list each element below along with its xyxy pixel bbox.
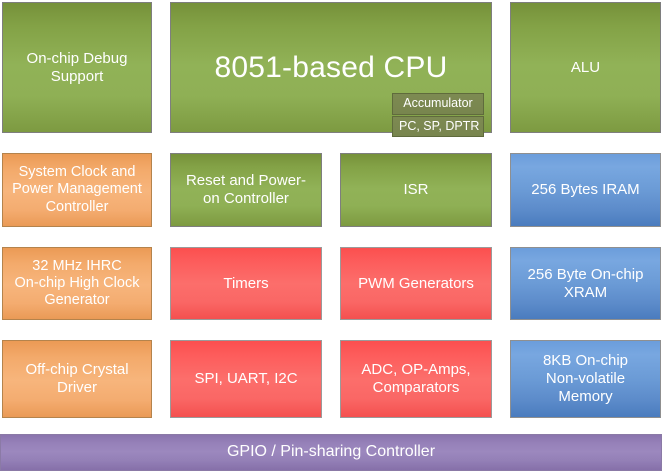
- block-label: ADC, OP-Amps, Comparators: [347, 361, 485, 396]
- block-isr[interactable]: ISR: [340, 153, 492, 227]
- block-label: ALU: [517, 59, 654, 77]
- block-label: On-chip Debug Support: [9, 50, 145, 85]
- block-label: Timers: [177, 275, 315, 293]
- block-gpio-pin-sharing-controller[interactable]: GPIO / Pin-sharing Controller: [0, 434, 662, 471]
- block-system-clock-power-management[interactable]: System Clock and Power Management Contro…: [2, 153, 152, 227]
- block-reset-power-on-controller[interactable]: Reset and Power- on Controller: [170, 153, 322, 227]
- block-label: SPI, UART, I2C: [177, 370, 315, 388]
- block-label: PWM Generators: [347, 275, 485, 293]
- block-diagram: On-chip Debug Support 8051-based CPU Acc…: [0, 0, 662, 473]
- cpu-register-accumulator[interactable]: Accumulator: [392, 93, 484, 115]
- block-256-byte-on-chip-xram[interactable]: 256 Byte On-chip XRAM: [510, 247, 661, 320]
- block-label: Reset and Power- on Controller: [177, 172, 315, 207]
- block-label: 256 Byte On-chip XRAM: [517, 266, 654, 301]
- block-32mhz-ihrc-clock-generator[interactable]: 32 MHz IHRC On-chip High Clock Generator: [2, 247, 152, 320]
- block-label: Off-chip Crystal Driver: [9, 361, 145, 396]
- block-label: System Clock and Power Management Contro…: [9, 164, 145, 215]
- block-8kb-non-volatile-memory[interactable]: 8KB On-chip Non-volatile Memory: [510, 340, 661, 418]
- block-label: 256 Bytes IRAM: [517, 181, 654, 199]
- block-label: 32 MHz IHRC On-chip High Clock Generator: [9, 258, 145, 309]
- cpu-register-stack: Accumulator PC, SP, DPTR: [392, 93, 484, 137]
- block-adc-opamps-comparators[interactable]: ADC, OP-Amps, Comparators: [340, 340, 492, 418]
- block-spi-uart-i2c[interactable]: SPI, UART, I2C: [170, 340, 322, 418]
- block-label: ISR: [347, 181, 485, 199]
- block-off-chip-crystal-driver[interactable]: Off-chip Crystal Driver: [2, 340, 152, 418]
- block-256-bytes-iram[interactable]: 256 Bytes IRAM: [510, 153, 661, 227]
- cpu-register-pointers[interactable]: PC, SP, DPTR: [392, 116, 484, 138]
- block-timers[interactable]: Timers: [170, 247, 322, 320]
- block-label: GPIO / Pin-sharing Controller: [7, 443, 655, 462]
- block-on-chip-debug-support[interactable]: On-chip Debug Support: [2, 2, 152, 133]
- block-label: 8KB On-chip Non-volatile Memory: [517, 352, 654, 405]
- block-label: 8051-based CPU: [177, 50, 485, 85]
- block-pwm-generators[interactable]: PWM Generators: [340, 247, 492, 320]
- block-alu[interactable]: ALU: [510, 2, 661, 133]
